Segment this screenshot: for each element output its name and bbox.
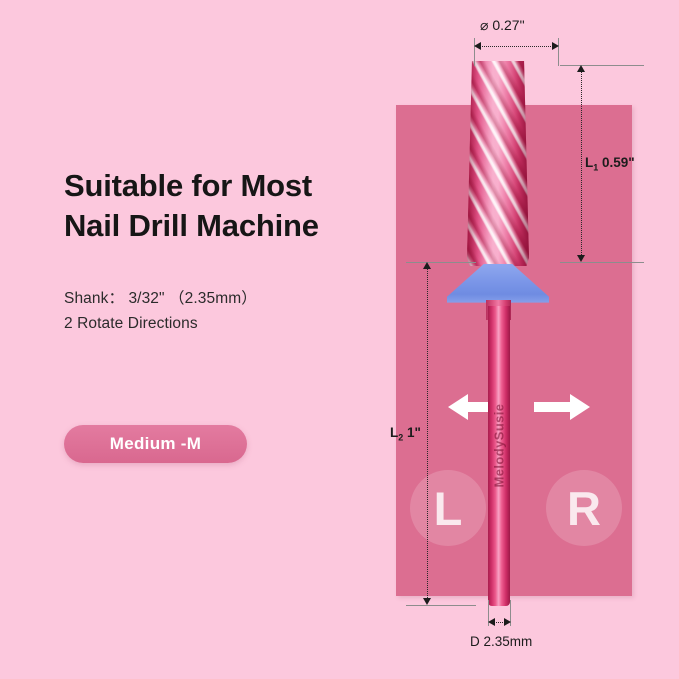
- dimension-head-length-value: 0.59": [602, 155, 635, 170]
- dimarrow-l1-top: [577, 65, 585, 72]
- dimline-l2: [427, 267, 429, 600]
- rotation-badge-right: R: [546, 470, 622, 546]
- dimarrow-diameter-left: [474, 42, 481, 50]
- rotation-badge-right-label: R: [567, 485, 601, 532]
- grit-badge-label: Medium -M: [110, 434, 201, 454]
- drill-bit-shank: [488, 306, 510, 606]
- dimarrow-d-left: [488, 618, 495, 626]
- drill-bit-head: [467, 61, 529, 266]
- product-infographic: Suitable for Most Nail Drill Machine Sha…: [0, 0, 679, 679]
- dimension-diameter-value: 0.27": [492, 17, 524, 33]
- dimension-total-length-prefix: L: [390, 425, 398, 440]
- dimarrow-l1-bottom: [577, 255, 585, 262]
- dimension-head-length-prefix: L: [585, 155, 593, 170]
- page-title: Suitable for Most Nail Drill Machine: [64, 166, 319, 245]
- guide-l1-bottom: [560, 262, 644, 263]
- dimension-total-length: L2 1": [390, 425, 421, 443]
- dimarrow-l2-top: [423, 262, 431, 269]
- dimarrow-diameter-right: [552, 42, 559, 50]
- dimline-diameter: [479, 46, 553, 48]
- dimarrow-d-right: [504, 618, 511, 626]
- dimarrow-l2-bottom: [423, 598, 431, 605]
- diameter-symbol-icon: ⌀: [480, 17, 488, 33]
- drill-bit-head-shading: [467, 61, 529, 266]
- rotation-badge-left: L: [410, 470, 486, 546]
- dimension-shank-diameter: D 2.35mm: [470, 634, 532, 649]
- spec-rotate-directions: 2 Rotate Directions: [64, 315, 198, 333]
- guide-l1-top: [560, 65, 644, 66]
- dimension-total-length-value: 1": [407, 425, 421, 440]
- dimline-l1: [581, 70, 583, 257]
- grit-badge: Medium -M: [64, 425, 247, 463]
- drill-bit-shank-tip: [488, 592, 510, 606]
- arrow-right-icon: [534, 392, 590, 422]
- dimension-diameter: ⌀ 0.27": [480, 17, 525, 34]
- guide-l2-top: [406, 262, 476, 263]
- dimension-head-length: L1 0.59": [585, 155, 635, 173]
- spec-shank: Shank： 3/32" （2.35mm）: [64, 286, 257, 308]
- guide-l2-bottom: [406, 605, 476, 606]
- dimension-head-length-sub: 1: [593, 163, 598, 173]
- dimension-total-length-sub: 2: [398, 433, 403, 443]
- rotation-badge-left-label: L: [434, 485, 463, 532]
